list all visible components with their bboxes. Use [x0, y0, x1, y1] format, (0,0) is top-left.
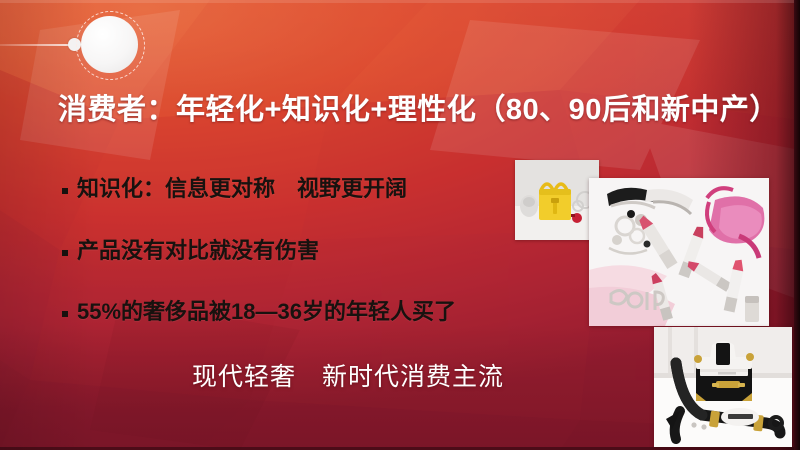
yellow-handbag-photo	[515, 160, 599, 240]
bullet-item-3: 55%的奢侈品被18—36岁的年轻人买了	[62, 298, 532, 327]
horizontal-accent-line-icon	[0, 44, 76, 46]
bullet-marker-icon	[62, 188, 68, 194]
presentation-slide: 消费者：年轻化+知识化+理性化（80、90后和新中产） 知识化：信息更对称 视野…	[0, 0, 800, 450]
bullet-text: 知识化：信息更对称 视野更开阔	[77, 175, 407, 204]
bullet-marker-icon	[62, 311, 68, 317]
white-circle-accent-icon	[81, 16, 138, 73]
bullet-marker-icon	[62, 250, 68, 256]
cosmetics-luxury-photo	[589, 178, 769, 326]
slide-title: 消费者：年轻化+知识化+理性化（80、90后和新中产）	[58, 86, 779, 128]
bullet-item-1: 知识化：信息更对称 视野更开阔	[62, 175, 532, 204]
slide-footer-text: 现代轻奢 新时代消费主流	[192, 357, 504, 393]
slide-right-edge	[794, 0, 800, 450]
bullet-text: 55%的奢侈品被18—36岁的年轻人买了	[77, 298, 456, 327]
bullet-text: 产品没有对比就没有伤害	[77, 237, 319, 266]
prada-crossbody-photo	[654, 327, 792, 447]
bullet-list: 知识化：信息更对称 视野更开阔 产品没有对比就没有伤害 55%的奢侈品被18—3…	[62, 175, 532, 360]
bullet-item-2: 产品没有对比就没有伤害	[62, 237, 532, 266]
decorative-accent-cluster	[0, 0, 200, 95]
